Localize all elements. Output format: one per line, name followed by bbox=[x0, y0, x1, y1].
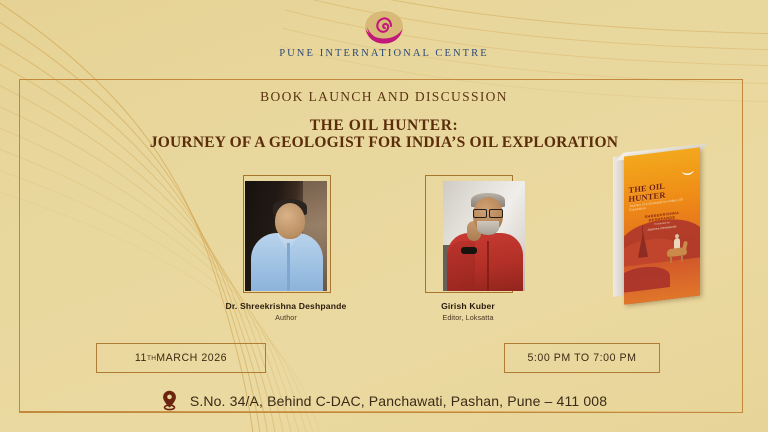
location-pin-icon bbox=[161, 390, 178, 411]
organization-name: PUNE INTERNATIONAL CENTRE bbox=[0, 48, 768, 59]
book-cover-image: THE OIL HUNTER Journey of a Geologist fo… bbox=[613, 152, 717, 300]
speaker-name-1: Dr. Shreekrishna Deshpande bbox=[186, 301, 386, 311]
publisher-mark-icon bbox=[681, 169, 695, 180]
event-time-text: 5:00 PM TO 7:00 PM bbox=[527, 352, 636, 364]
event-date-month-year: MARCH 2026 bbox=[156, 352, 227, 364]
event-time-box: 5:00 PM TO 7:00 PM bbox=[504, 343, 660, 373]
speaker-photo-2 bbox=[443, 181, 525, 291]
speaker-role-1: Author bbox=[186, 313, 386, 322]
speaker-name-2: Girish Kuber bbox=[368, 301, 568, 311]
bottom-divider bbox=[20, 411, 720, 412]
poster-header: PUNE INTERNATIONAL CENTRE bbox=[0, 8, 768, 59]
venue-row: S.No. 34/A, Behind C-DAC, Panchawati, Pa… bbox=[0, 390, 768, 411]
camel-rider-illustration bbox=[667, 240, 689, 263]
rose-spiral-logo-icon bbox=[361, 8, 407, 46]
event-date-ordinal: TH bbox=[147, 355, 156, 362]
speaker-photo-1 bbox=[245, 181, 327, 291]
oil-derrick-illustration bbox=[638, 231, 648, 258]
event-kicker: BOOK LAUNCH AND DISCUSSION bbox=[0, 89, 768, 105]
book-front-cover: THE OIL HUNTER Journey of a Geologist fo… bbox=[624, 147, 700, 304]
event-date-box: 11TH MARCH 2026 bbox=[96, 343, 266, 373]
event-date-day: 11 bbox=[135, 352, 147, 364]
venue-address: S.No. 34/A, Behind C-DAC, Panchawati, Pa… bbox=[190, 393, 607, 409]
speaker-role-2: Editor, Loksatta bbox=[368, 313, 568, 322]
event-poster: PUNE INTERNATIONAL CENTRE BOOK LAUNCH AN… bbox=[0, 0, 768, 432]
